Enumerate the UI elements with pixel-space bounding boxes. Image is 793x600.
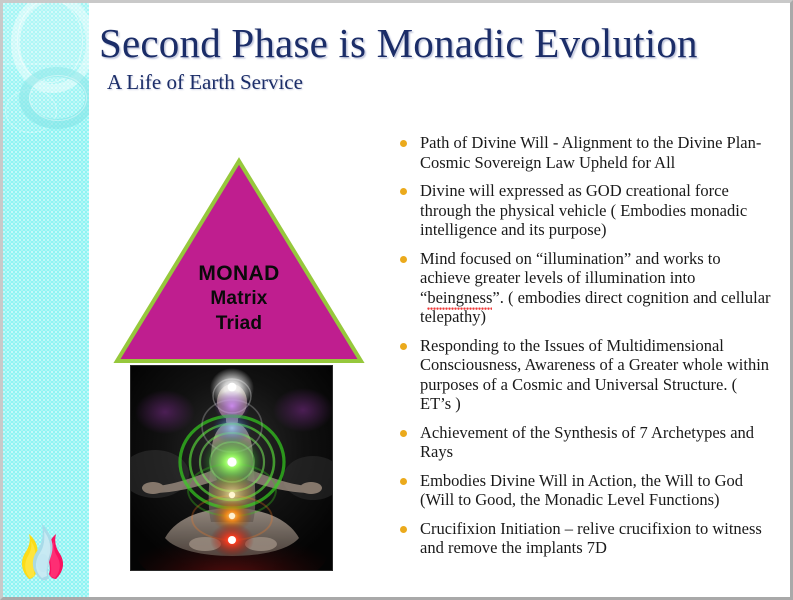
bullet-text: Achievement of the Synthesis of 7 Archet… xyxy=(420,423,771,462)
bullet-dot-icon xyxy=(400,526,407,533)
bullet-dot-icon xyxy=(400,256,407,263)
bullet-list: Path of Divine Will - Alignment to the D… xyxy=(396,133,771,567)
bullet-text: Responding to the Issues of Multidimensi… xyxy=(420,336,771,414)
list-item: Path of Divine Will - Alignment to the D… xyxy=(396,133,771,172)
monad-triangle-shape xyxy=(113,157,365,365)
chakra-meditation-image xyxy=(130,365,333,571)
bullet-dot-icon xyxy=(400,140,407,147)
bullet-dot-icon xyxy=(400,343,407,350)
page-title: Second Phase is Monadic Evolution xyxy=(99,21,769,66)
bullet-dot-icon xyxy=(400,478,407,485)
list-item: Embodies Divine Will in Action, the Will… xyxy=(396,471,771,510)
bullet-text: Crucifixion Initiation – relive crucifix… xyxy=(420,519,771,558)
presentation-slide: Second Phase is Monadic Evolution A Life… xyxy=(0,0,793,600)
bullet-text: Embodies Divine Will in Action, the Will… xyxy=(420,471,771,510)
list-item: Mind focused on “illumination” and works… xyxy=(396,249,771,327)
bullet-dot-icon xyxy=(400,430,407,437)
slide-sidebar-decoration xyxy=(3,3,89,597)
page-subtitle: A Life of Earth Service xyxy=(107,70,769,94)
bullet-text: Mind focused on “illumination” and works… xyxy=(420,249,771,327)
slide-canvas: Second Phase is Monadic Evolution A Life… xyxy=(3,3,790,597)
sidebar-sheen-overlay xyxy=(3,63,89,133)
bullet-text: Divine will expressed as GOD creational … xyxy=(420,181,771,240)
flame-logo-icon xyxy=(15,501,69,581)
list-item: Responding to the Issues of Multidimensi… xyxy=(396,336,771,414)
list-item: Divine will expressed as GOD creational … xyxy=(396,181,771,240)
title-block: Second Phase is Monadic Evolution A Life… xyxy=(99,21,769,94)
bullet-dot-icon xyxy=(400,188,407,195)
list-item: Achievement of the Synthesis of 7 Archet… xyxy=(396,423,771,462)
list-item: Crucifixion Initiation – relive crucifix… xyxy=(396,519,771,558)
bullet-text: Path of Divine Will - Alignment to the D… xyxy=(420,133,771,172)
